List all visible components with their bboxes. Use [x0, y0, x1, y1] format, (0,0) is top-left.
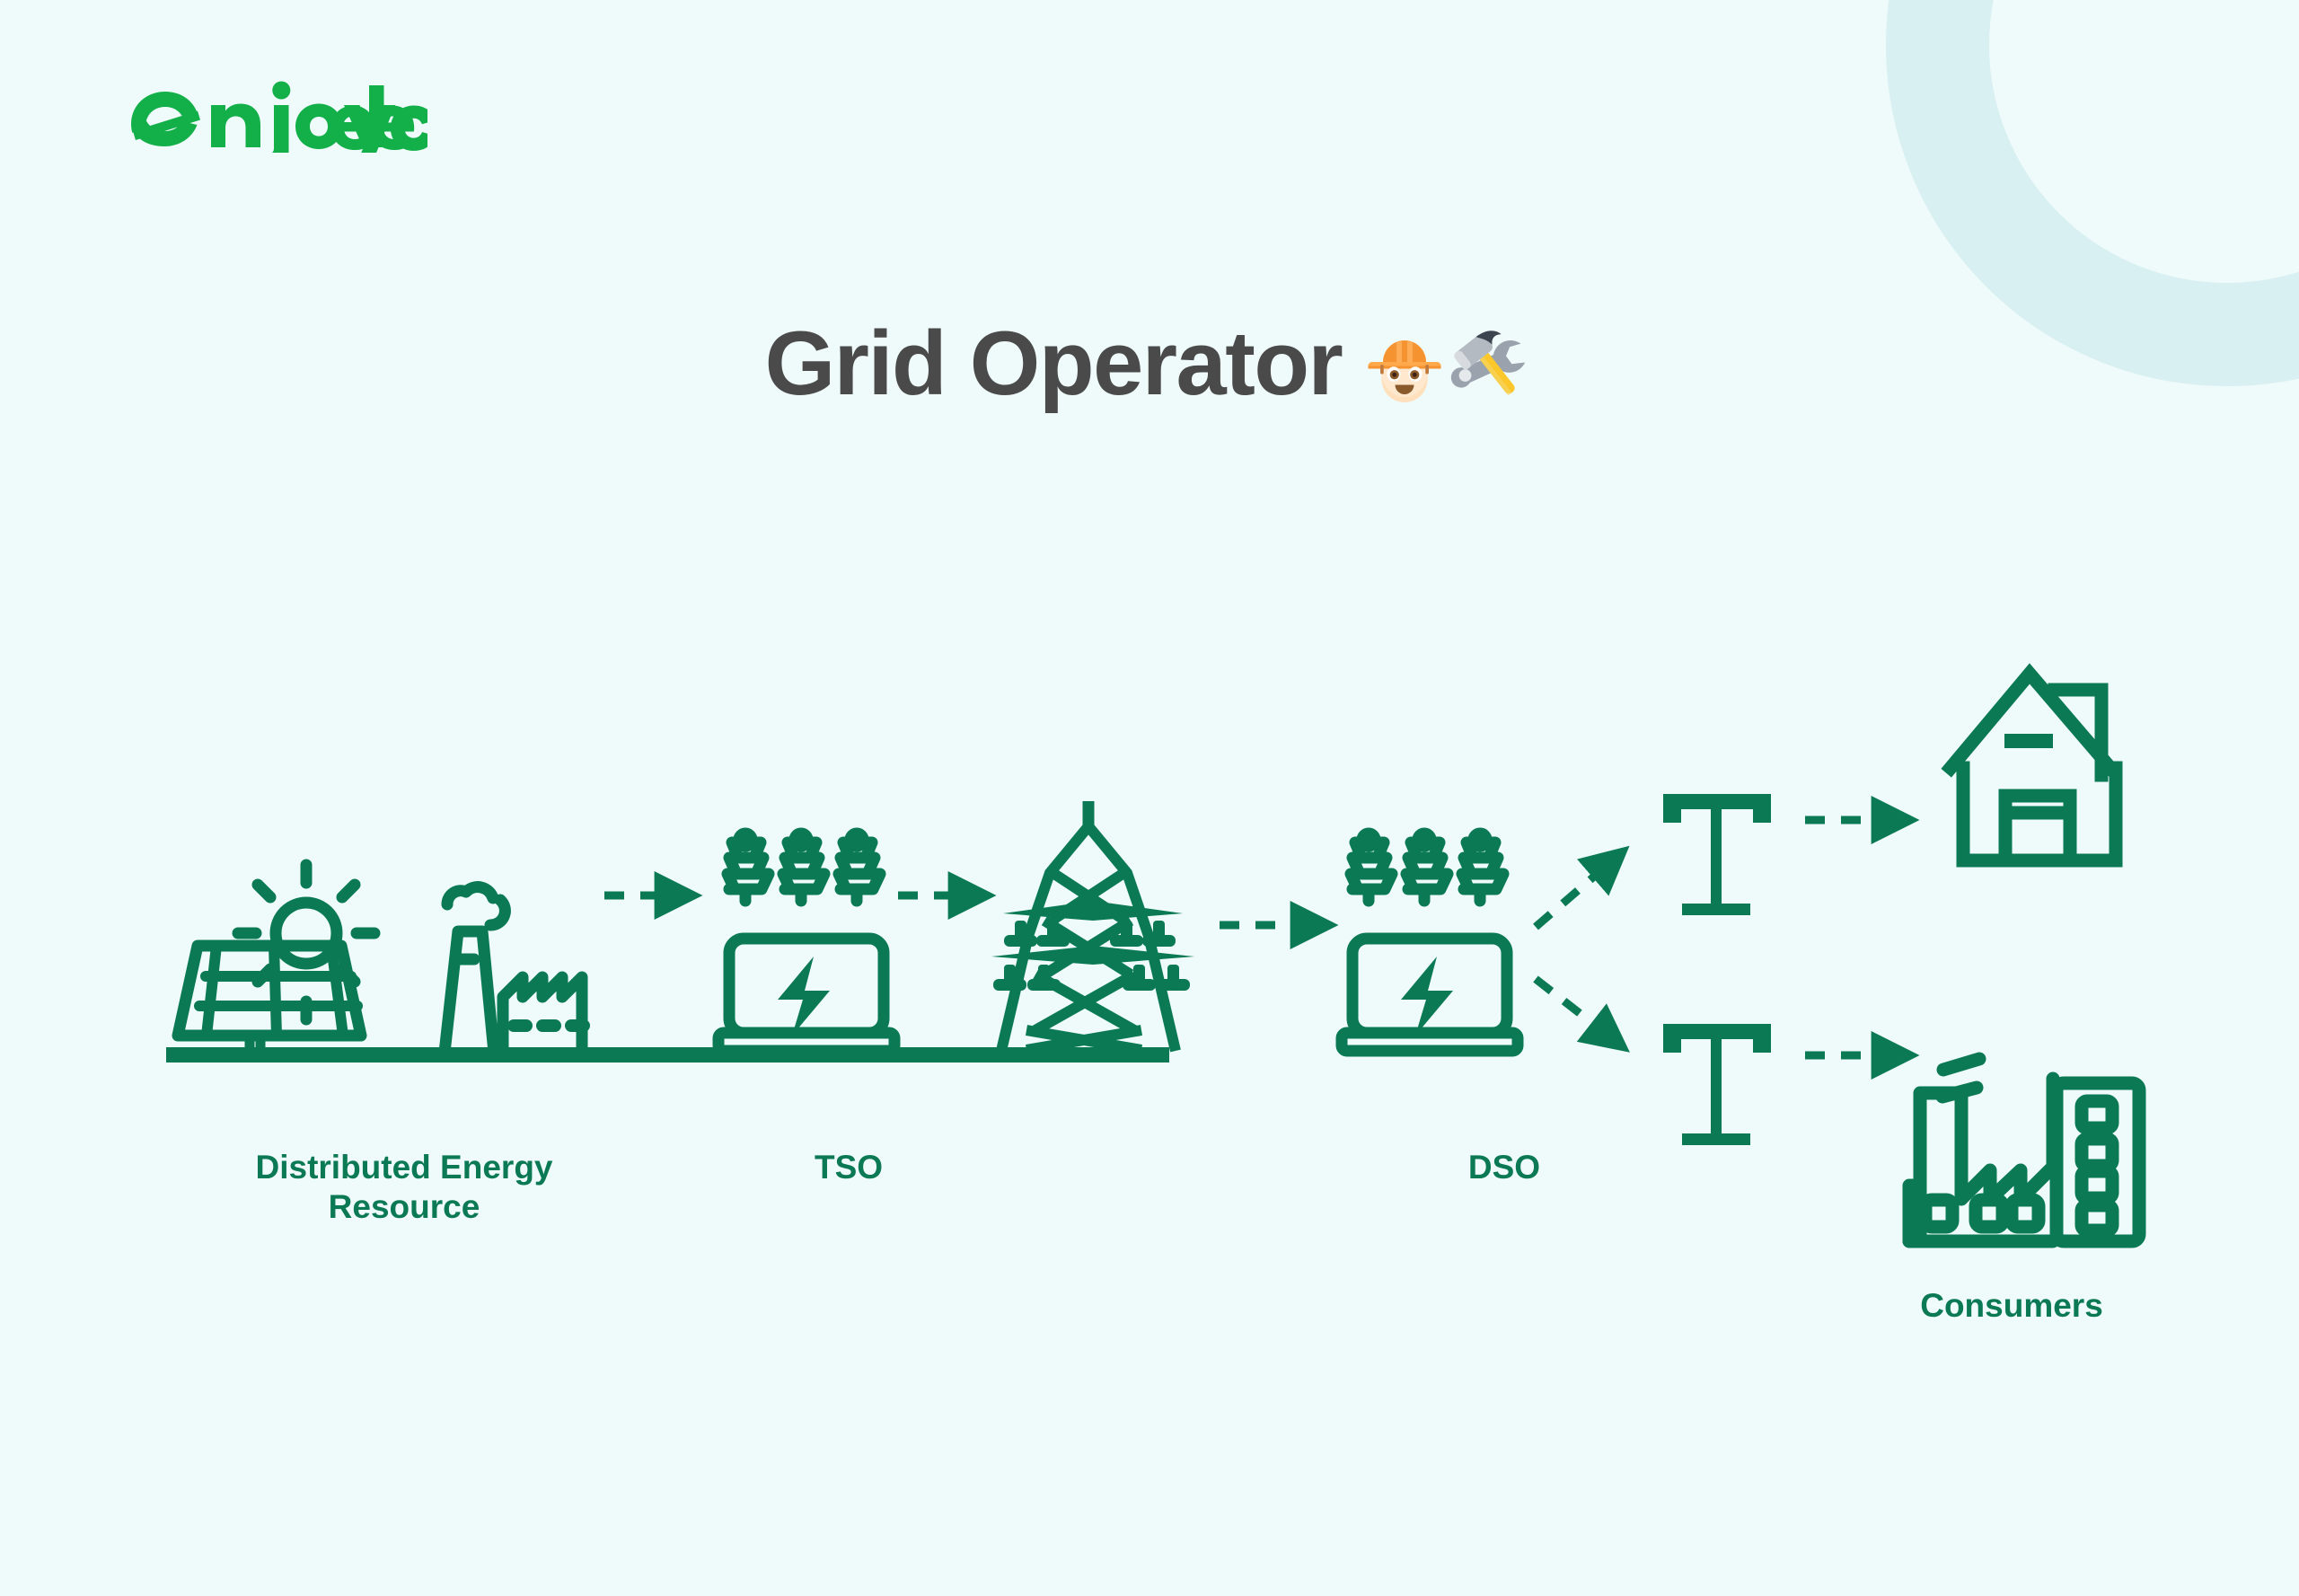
construction-worker-emoji [1361, 322, 1448, 408]
label-tso: TSO [718, 1148, 979, 1187]
transformer-icon [718, 833, 894, 1051]
ground-line [166, 1047, 1169, 1063]
house-icon [1951, 674, 2116, 860]
enjoyelec-wordmark-icon [126, 79, 427, 153]
arrow-dso-to-pole-upper [1536, 853, 1621, 927]
title-emoji-group [1361, 322, 1534, 408]
factory-icon [1909, 1059, 2139, 1241]
page-title-row: Grid Operator [0, 319, 2299, 410]
label-distributed-energy-resource: Distributed Energy Resource [144, 1148, 665, 1226]
power-plant-icon [445, 887, 584, 1053]
solar-panel-icon [178, 865, 374, 1052]
grid-flow-diagram [0, 0, 2299, 1596]
arrow-dso-to-pole-lower [1536, 979, 1621, 1045]
transformer-icon [1342, 833, 1518, 1051]
label-dso: DSO [1374, 1148, 1634, 1187]
utility-pole-icon [1663, 794, 1771, 915]
utility-pole-icon [1663, 1024, 1771, 1145]
transmission-tower-icon [991, 801, 1194, 1051]
label-consumers: Consumers [1859, 1286, 2164, 1326]
brand-logo[interactable] [126, 79, 427, 153]
hammer-and-wrench-emoji [1448, 322, 1534, 408]
page-title: Grid Operator [765, 319, 1343, 410]
